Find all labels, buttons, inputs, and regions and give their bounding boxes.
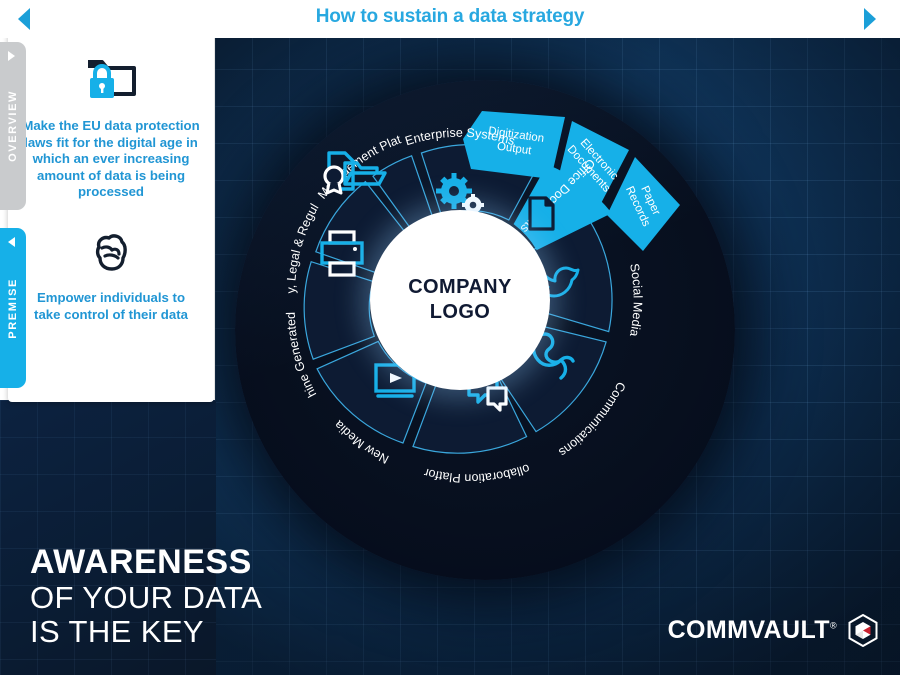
awareness-line-1: AWARENESS <box>30 545 262 579</box>
raised-fist-icon <box>8 220 214 282</box>
chevron-left-icon <box>8 237 15 247</box>
commvault-cube-icon <box>848 614 878 647</box>
chevron-right-icon <box>8 51 15 61</box>
sidebar-tab-overview[interactable]: OVERVIEW <box>0 42 26 210</box>
sidebar-tab-overview-label: OVERVIEW <box>7 90 19 162</box>
chevron-left-icon <box>18 8 30 30</box>
next-slide-button[interactable] <box>864 8 886 30</box>
wheel-hub: COMPANY LOGO <box>370 210 550 390</box>
sidebar-tab-premise[interactable]: PREMISE <box>0 228 26 388</box>
prev-slide-button[interactable] <box>18 8 40 30</box>
premise-block-1: Make the EU data protection laws fit for… <box>8 48 214 201</box>
data-sources-wheel: Enterprise Systems Social Media Communic… <box>225 65 695 535</box>
brand-name: COMMVAULT® <box>668 616 837 645</box>
commvault-logo: COMMVAULT® <box>668 614 878 647</box>
chevron-right-icon <box>864 8 876 30</box>
hub-line-1: COMPANY <box>408 276 512 299</box>
document-icon <box>530 198 553 229</box>
premise-block-2: Empower individuals to take control of t… <box>8 220 214 323</box>
sidebar-tab-premise-label: PREMISE <box>7 278 19 339</box>
folder-lock-icon <box>8 48 214 110</box>
top-header: How to sustain a data strategy <box>0 0 900 38</box>
awareness-headline: AWARENESS OF YOUR DATA IS THE KEY <box>30 545 262 647</box>
slide-canvas: Enterprise Systems Social Media Communic… <box>0 0 900 675</box>
awareness-line-3: IS THE KEY <box>30 616 262 647</box>
segment-label-policy-legal-regulatory: Policy, Legal & Regulatory <box>225 65 321 294</box>
premise-panel: Make the EU data protection laws fit for… <box>8 30 214 402</box>
page-title: How to sustain a data strategy <box>0 6 900 28</box>
premise-text-1: Make the EU data protection laws fit for… <box>8 118 214 201</box>
trademark-symbol: ® <box>830 621 837 631</box>
premise-text-2: Empower individuals to take control of t… <box>8 290 214 323</box>
segment-label-social-media: Social Media <box>627 262 645 337</box>
hub-line-2: LOGO <box>430 301 491 324</box>
awareness-line-2: OF YOUR DATA <box>30 582 262 613</box>
